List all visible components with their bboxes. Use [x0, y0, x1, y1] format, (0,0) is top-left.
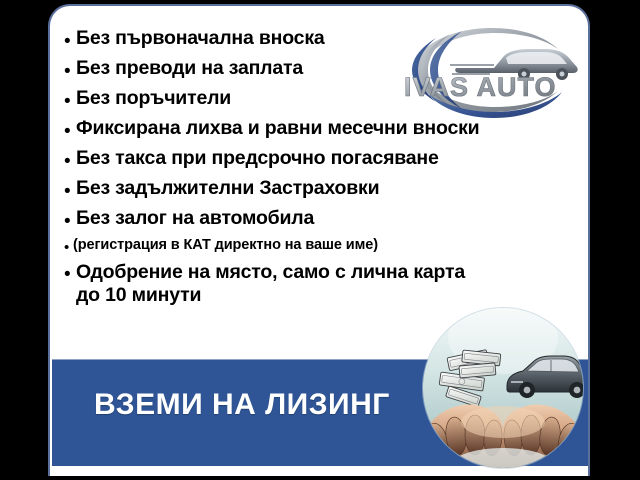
list-item-label: Одобрение на място, само с лична карта д…: [76, 261, 590, 308]
list-item: • Без преводи на заплата: [64, 58, 590, 81]
list-item: • Одобрение на място, само с лична карта…: [64, 261, 590, 308]
leasing-offer-card: • Без първоначална вноска • Без преводи …: [48, 4, 590, 476]
bullet-icon: •: [64, 178, 76, 201]
bullet-icon: •: [64, 208, 76, 231]
list-item: • Без поръчители: [64, 88, 590, 111]
list-item-label: Без поръчители: [76, 88, 590, 108]
cta-banner-label: ВЗЕМИ НА ЛИЗИНГ: [94, 388, 390, 422]
list-item: • Без залог на автомобила: [64, 208, 590, 231]
list-item-label: Без залог на автомобила: [76, 208, 590, 228]
bullet-icon: •: [64, 58, 76, 81]
bullet-icon: •: [64, 28, 76, 51]
hands-money-car-photo: [423, 308, 583, 468]
bullet-icon: •: [64, 88, 76, 111]
list-item: • (регистрация в КАТ директно на ваше им…: [64, 238, 590, 255]
list-item: • Без такса при предсрочно погасяване: [64, 148, 590, 171]
bullet-icon: •: [64, 261, 76, 284]
list-item-label: Фиксирана лихва и равни месечни вноски: [76, 118, 590, 138]
list-item-label: Без задължителни Застраховки: [76, 178, 590, 198]
benefits-list: • Без първоначална вноска • Без преводи …: [64, 28, 590, 315]
bullet-icon: •: [64, 118, 76, 141]
letterbox-bar-left: [0, 0, 48, 480]
list-item: • Без задължителни Застраховки: [64, 178, 590, 201]
list-item: • Фиксирана лихва и равни месечни вноски: [64, 118, 590, 141]
bullet-icon: •: [64, 148, 76, 171]
list-item-label: Без преводи на заплата: [76, 58, 590, 78]
letterbox-bar-right: [592, 0, 640, 480]
flyer-stage: • Без първоначална вноска • Без преводи …: [0, 0, 640, 480]
list-item-label: Без първоначална вноска: [76, 28, 590, 48]
list-item-label: Без такса при предсрочно погасяване: [76, 148, 590, 168]
list-item: • Без първоначална вноска: [64, 28, 590, 51]
bullet-icon: •: [64, 238, 73, 255]
list-item-label: (регистрация в КАТ директно на ваше име): [73, 238, 590, 253]
